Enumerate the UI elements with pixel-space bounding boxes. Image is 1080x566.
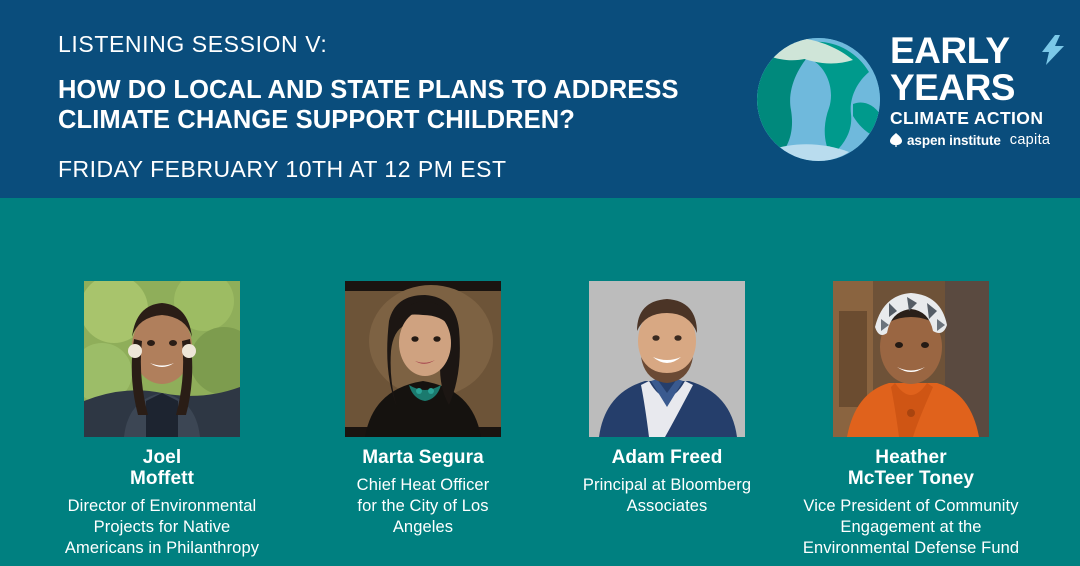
speaker-name-line: Heather: [786, 447, 1036, 468]
speaker-title: Chief Heat Officer for the City of Los A…: [298, 475, 548, 538]
speaker-photo-joel-moffett: [84, 281, 240, 437]
speaker-title-line: Angeles: [298, 517, 548, 538]
brand-line-1: EARLY: [890, 30, 1010, 71]
speaker-title-line: Americans in Philanthropy: [37, 538, 287, 559]
speaker-name-line: Marta Segura: [298, 447, 548, 468]
speaker-title: Director of Environmental Projects for N…: [37, 496, 287, 559]
brand-line-1-wrap: EARLY: [890, 33, 1060, 69]
speaker-name-line: McTeer Toney: [786, 468, 1036, 489]
headline-line-2: CLIMATE CHANGE SUPPORT CHILDREN?: [58, 105, 758, 135]
speaker-title-line: Projects for Native: [37, 517, 287, 538]
header-text-block: LISTENING SESSION V: HOW DO LOCAL AND ST…: [58, 31, 758, 182]
lightning-bolt-icon: [1042, 35, 1064, 65]
speaker-title-line: Principal at Bloomberg: [542, 475, 792, 496]
globe-icon: [757, 38, 880, 161]
page-title: HOW DO LOCAL AND STATE PLANS TO ADDRESS …: [58, 75, 758, 135]
leaf-icon: [890, 133, 902, 147]
speakers-section: Joel Moffett Director of Environmental P…: [0, 198, 1080, 566]
speaker-photo-adam-freed: [589, 281, 745, 437]
speaker-photo-marta-segura: [345, 281, 501, 437]
speaker-name: Heather McTeer Toney: [786, 447, 1036, 489]
brand-tagline: CLIMATE ACTION: [890, 108, 1060, 128]
partner-lockup: aspen institute capita: [890, 132, 1060, 148]
speaker-title-line: Vice President of Community: [786, 496, 1036, 517]
speaker-title-line: Chief Heat Officer: [298, 475, 548, 496]
speaker-title-line: Environmental Defense Fund: [786, 538, 1036, 559]
speaker-name-line: Moffett: [37, 468, 287, 489]
speaker-title: Vice President of Community Engagement a…: [786, 496, 1036, 559]
speaker-title-line: Engagement at the: [786, 517, 1036, 538]
speaker-name-line: Adam Freed: [542, 447, 792, 468]
speaker-title-line: for the City of Los: [298, 496, 548, 517]
speaker-title: Principal at Bloomberg Associates: [542, 475, 792, 517]
speaker-card-3: Adam Freed Principal at Bloomberg Associ…: [542, 281, 792, 517]
early-years-logo: EARLY YEARS CLIMATE ACTION aspen institu…: [757, 33, 1057, 168]
partner-aspen-institute: aspen institute: [907, 133, 1001, 148]
speaker-name: Marta Segura: [298, 447, 548, 468]
speaker-name: Adam Freed: [542, 447, 792, 468]
speaker-card-4: Heather McTeer Toney Vice President of C…: [786, 281, 1036, 559]
speaker-card-1: Joel Moffett Director of Environmental P…: [37, 281, 287, 559]
partner-capita: capita: [1010, 132, 1051, 148]
header-band: LISTENING SESSION V: HOW DO LOCAL AND ST…: [0, 0, 1080, 198]
session-eyebrow: LISTENING SESSION V:: [58, 31, 758, 57]
speaker-title-line: Director of Environmental: [37, 496, 287, 517]
event-datetime: FRIDAY FEBRUARY 10TH AT 12 PM EST: [58, 156, 758, 182]
speaker-name-line: Joel: [37, 447, 287, 468]
speaker-photo-heather-mcteer-toney: [833, 281, 989, 437]
logo-wordmark: EARLY YEARS CLIMATE ACTION aspen institu…: [890, 33, 1060, 148]
brand-line-2: YEARS: [890, 69, 1060, 106]
speaker-title-line: Associates: [542, 496, 792, 517]
headline-line-1: HOW DO LOCAL AND STATE PLANS TO ADDRESS: [58, 75, 758, 105]
speaker-name: Joel Moffett: [37, 447, 287, 489]
speaker-card-2: Marta Segura Chief Heat Officer for the …: [298, 281, 548, 538]
